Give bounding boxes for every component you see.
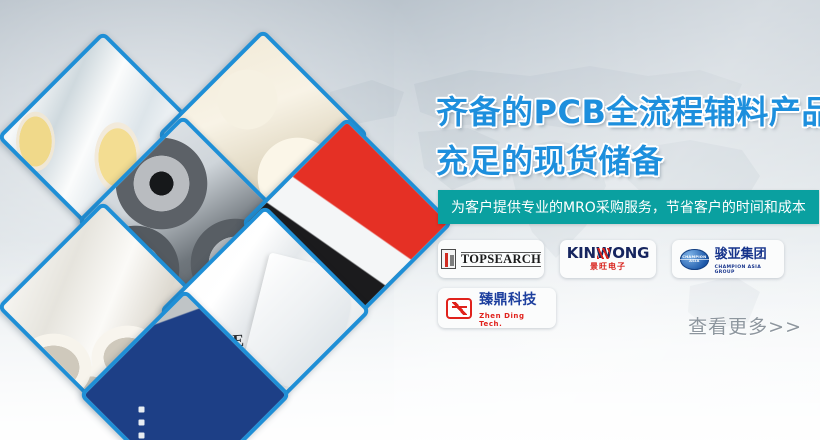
headline: 齐备的PCB全流程辅料产品、 充足的现货储备 bbox=[436, 88, 820, 186]
client-logo-kinwong[interactable]: KIN W ONG 景旺电子 bbox=[560, 240, 656, 278]
champion-latin: CHAMPION ASIA GROUP bbox=[715, 265, 776, 275]
headline-line-1: 齐备的PCB全流程辅料产品、 bbox=[436, 88, 820, 137]
banner-content: 齐备的PCB全流程辅料产品、 充足的现货储备 为客户提供专业的MRO采购服务，节… bbox=[430, 0, 820, 440]
headline-line-2: 充足的现货储备 bbox=[436, 137, 820, 186]
topsearch-label: TOPSEARCH bbox=[461, 252, 541, 267]
kinwong-chinese: 景旺电子 bbox=[590, 261, 626, 272]
client-logo-zhending[interactable]: 臻鼎科技 Zhen Ding Tech. bbox=[438, 288, 556, 328]
subtitle-bar: 为客户提供专业的MRO采购服务，节省客户的时间和成本 bbox=[438, 190, 819, 224]
client-logo-champion-asia[interactable]: 骏亚集团 CHAMPION ASIA GROUP bbox=[672, 240, 784, 278]
zhending-mark-icon bbox=[446, 298, 472, 319]
view-more-link[interactable]: 查看更多>> bbox=[688, 312, 802, 339]
mat-dots bbox=[130, 400, 145, 439]
zhending-chinese: 臻鼎科技 bbox=[479, 289, 548, 309]
kinwong-latin-b: ONG bbox=[612, 246, 649, 261]
product-collage: JIE bbox=[0, 0, 430, 440]
kinwong-latin-a: KIN bbox=[567, 246, 596, 261]
champion-chinese: 骏亚集团 bbox=[715, 243, 776, 262]
kinwong-w-icon: W bbox=[596, 246, 612, 261]
globe-icon bbox=[680, 249, 709, 270]
zhending-latin: Zhen Ding Tech. bbox=[479, 312, 548, 328]
kinwong-latin: KIN W ONG bbox=[567, 246, 650, 261]
client-logo-topsearch[interactable]: TOPSEARCH bbox=[438, 240, 544, 278]
topsearch-mark-icon bbox=[441, 249, 456, 269]
